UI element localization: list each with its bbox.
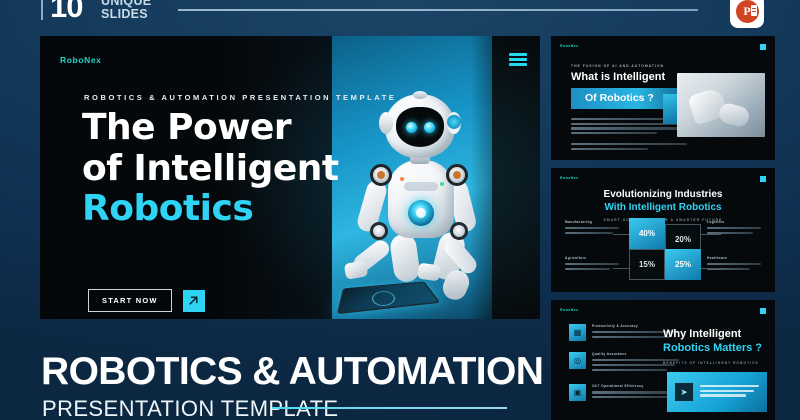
highlight-card: ➤ [667,372,767,412]
thumb-caption: Manufacturing [565,220,619,224]
hero-headline-line1: The Power [82,108,339,149]
search-icon: ◎ [569,352,586,369]
robot-leg-left [389,232,421,283]
hero-logo: RoboNex [60,55,102,65]
robot-head [385,94,455,158]
robot-chest-panel [404,182,438,191]
thumb-caption-block-left-bottom: Agriculture [565,256,619,273]
hamburger-menu-icon[interactable] [760,44,766,50]
hamburger-bar-1 [509,53,527,56]
text-line [565,232,613,234]
text-line [571,132,657,134]
hero-cta-row: START NOW [88,289,205,312]
list-item: ▣ 24/7 Operational Efficiency [569,384,679,401]
thumb-heading-line2: With Intelligent Robotics [551,201,775,214]
robot-icon: ▣ [569,384,586,401]
hamburger-menu-icon[interactable] [760,308,766,314]
start-now-button[interactable]: START NOW [88,289,172,312]
text-line [565,227,619,229]
text-line [592,396,669,398]
text-line [592,369,667,371]
robot-hand-right [417,263,441,282]
chip-icon: ▦ [569,324,586,341]
thumbnail-slide-2[interactable]: RoboNex THE FUSION OF AI AND AUTOMATION … [551,36,775,160]
stat-box: 15% [629,249,665,280]
thumbnail-column: RoboNex THE FUSION OF AI AND AUTOMATION … [551,36,775,420]
thumb-logo: RoboNex [560,44,579,48]
thumb-heading-block: Why Intelligent Robotics Matters ? BENEF… [663,328,763,365]
banner-tick-mark [41,0,43,20]
robot-hand-photo [677,73,765,137]
rocket-icon: ➤ [675,383,693,401]
thumb-caption: Healthcare [707,256,761,260]
text-line [565,263,619,265]
robot-ear-left [379,112,393,134]
robot-shoulder-hub-right [453,171,461,179]
powerpoint-icon-slab [751,5,757,16]
banner-divider [178,9,698,11]
robot-eye-right [424,122,435,133]
robot-face-screen [396,107,444,147]
robot-shoulder-left [370,164,392,186]
hero-headline: The Power of Intelligent Robotics [82,108,339,230]
hamburger-bar-2 [509,58,527,61]
robot-elbow-left [370,222,388,240]
text-line [707,263,761,265]
text-line [700,385,759,387]
text-line [571,143,687,145]
page-subtitle-rule [272,407,507,409]
hamburger-menu-icon[interactable] [760,176,766,182]
robot-shoulder-right [446,164,468,186]
text-line [592,391,679,393]
thumb-logo: RoboNex [560,308,579,312]
robot-illustration [340,94,520,319]
thumb-heading-line1: Why Intelligent [663,328,763,342]
page-subtitle: PRESENTATION TEMPLATE [42,398,338,420]
thumb-caption-block-right-bottom: Healthcare [707,256,761,273]
connector-line [701,268,721,269]
list-item-title: 24/7 Operational Efficiency [592,384,679,388]
hero-slide[interactable]: RoboNex [40,36,540,319]
thumb-subheading: BENEFITS OF INTELLIGENT ROBOTICS [663,361,763,365]
robot-torso [388,160,454,238]
robot-tablet [337,281,441,314]
hero-headline-accent: Robotics [82,189,339,230]
text-line [700,394,746,396]
text-line [571,127,690,129]
powerpoint-icon-letter: P [743,5,750,17]
stat-grid: 40% 20% 15% 25% [629,218,701,280]
hero-headline-line2: of Intelligent [82,149,339,190]
robot-indicator-orange [400,177,404,181]
robot-core-light [408,200,434,226]
page-title: ROBOTICS & AUTOMATION [41,352,543,391]
list-item-text: 24/7 Operational Efficiency [592,384,679,401]
thumb-paragraph-2 [571,143,691,150]
arrow-up-right-icon[interactable] [183,290,205,312]
text-line [565,268,610,270]
robot-antenna [413,91,427,99]
robot-hand-left [344,260,368,280]
thumbnail-slide-4[interactable]: RoboNex ▦ Productivity & Accuracy ◎ Qual… [551,300,775,420]
robot-eye-left [406,122,417,133]
slide-count: 10 [50,0,82,22]
unique-label-line2: SLIDES [101,8,151,21]
highlight-card-lines [700,385,759,399]
text-line [707,227,761,229]
thumb-eyebrow: THE FUSION OF AI AND AUTOMATION [571,64,691,68]
text-line [700,390,754,392]
robot-shoulder-hub-left [377,171,385,179]
connector-line [701,234,721,235]
hamburger-bar-3 [509,63,527,66]
thumb-logo: RoboNex [560,176,579,180]
thumbnail-slide-3[interactable]: RoboNex Evolutionizing Industries With I… [551,168,775,292]
text-line [571,148,648,150]
hero-eyebrow: ROBOTICS & AUTOMATION PRESENTATION TEMPL… [84,93,397,102]
stat-box: 25% [665,249,701,280]
slide-count-label: UNIQUE SLIDES [101,0,151,20]
robot-indicator-green [440,182,444,186]
robot-ear-right [447,112,461,134]
thumb-caption-block-left-top: Manufacturing [565,220,619,237]
thumb-caption: Logistics [707,220,761,224]
thumb-heading: What is Intelligent [571,71,691,85]
thumb-heading-line1: Evolutionizing Industries [551,188,775,201]
stat-box: 40% [629,218,665,249]
thumb-caption: Agriculture [565,256,619,260]
thumb-heading-line2: Robotics Matters ? [663,342,763,356]
powerpoint-icon: P [730,0,764,28]
hamburger-menu-icon[interactable] [509,52,527,67]
thumb-heading-block: Evolutionizing Industries With Intellige… [551,188,775,222]
text-line [592,336,670,338]
top-banner: 10 UNIQUE SLIDES P [0,0,800,30]
